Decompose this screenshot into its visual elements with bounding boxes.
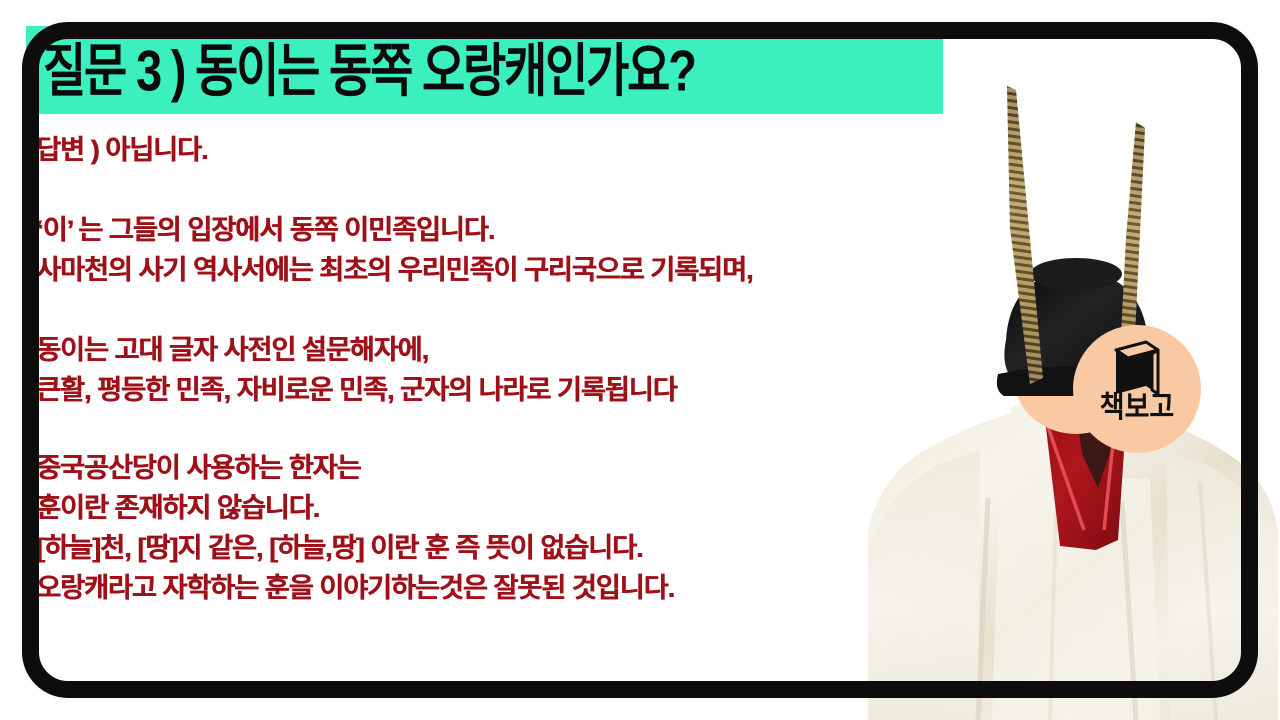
body-line: 큰활, 평등한 민족, 자비로운 민족, 군자의 나라로 기록됩니다 (36, 370, 996, 410)
body-line: 중국공산당이 사용하는 한자는 (36, 448, 996, 488)
slide-root: 질문 3 ) 동이는 동쪽 오랑캐인가요? 답변 ) 아닙니다. ‘이’ 는 그… (0, 0, 1280, 720)
body-line: ‘이’ 는 그들의 입장에서 동쪽 이민족입니다. (36, 210, 996, 250)
paragraph-spacer (36, 170, 996, 210)
paragraph-answer: 답변 ) 아닙니다. (36, 130, 996, 170)
logo-badge[interactable]: 책보고 (1073, 325, 1201, 453)
paragraph-dongyi-dictionary: 동이는 고대 글자 사전인 설문해자에, 큰활, 평등한 민족, 자비로운 민족… (36, 330, 996, 410)
title-band: 질문 3 ) 동이는 동쪽 오랑캐인가요? (26, 26, 943, 114)
body-copy: 답변 ) 아닙니다. ‘이’ 는 그들의 입장에서 동쪽 이민족입니다. 사마천… (36, 130, 996, 608)
body-line: 오랑캐라고 자학하는 훈을 이야기하는것은 잘못된 것입니다. (36, 568, 996, 608)
body-line: 답변 ) 아닙니다. (36, 130, 996, 170)
body-line: [하늘]천, [땅]지 같은, [하늘,땅] 이란 훈 즉 뜻이 없습니다. (36, 528, 996, 568)
paragraph-hanja-hun: 중국공산당이 사용하는 한자는 훈이란 존재하지 않습니다. [하늘]천, [땅… (36, 448, 996, 608)
logo-label: 책보고 (1100, 392, 1175, 422)
paragraph-i-meaning: ‘이’ 는 그들의 입장에서 동쪽 이민족입니다. 사마천의 사기 역사서에는 … (36, 210, 996, 290)
body-line: 훈이란 존재하지 않습니다. (36, 488, 996, 528)
paragraph-spacer (36, 410, 996, 448)
body-line: 동이는 고대 글자 사전인 설문해자에, (36, 330, 996, 370)
body-line: 사마천의 사기 역사서에는 최초의 우리민족이 구리국으로 기록되며, (36, 250, 996, 290)
page-title: 질문 3 ) 동이는 동쪽 오랑캐인가요? (26, 41, 695, 98)
paragraph-spacer (36, 290, 996, 330)
